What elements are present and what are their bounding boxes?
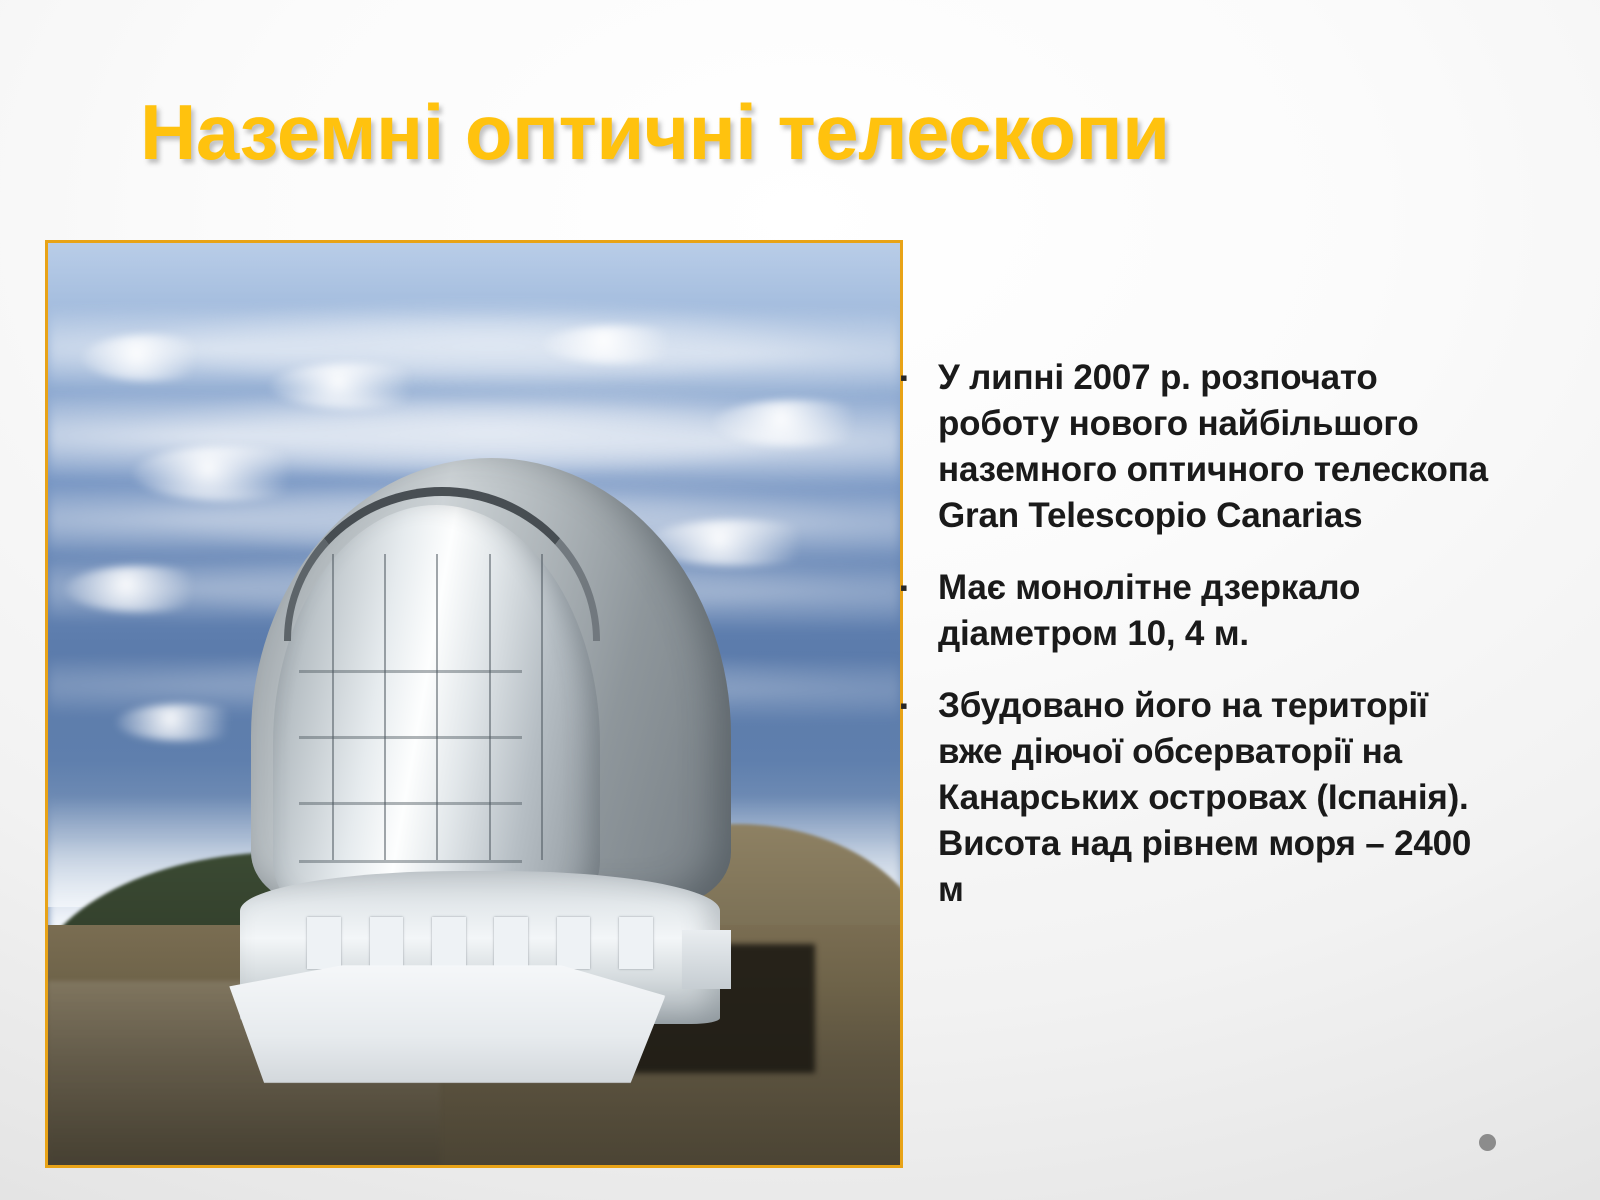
drum-window: [494, 917, 528, 969]
dome-ring: [299, 670, 521, 673]
drum-window: [619, 917, 653, 969]
photo-canvas: [48, 243, 900, 1165]
cloud-puff: [713, 400, 883, 446]
drum-window: [370, 917, 404, 969]
list-item: ▪ У липні 2007 р. розпочато роботу новог…: [900, 355, 1500, 539]
cloud-puff: [65, 566, 218, 612]
list-item-text: Збудовано його на території вже діючої о…: [938, 683, 1500, 913]
cloud-puff: [270, 363, 440, 409]
observatory-dome: [218, 446, 763, 1036]
decorative-dot: [1479, 1134, 1496, 1151]
bullet-list: ▪ У липні 2007 р. розпочато роботу новог…: [900, 355, 1500, 939]
list-item: ▪ Збудовано його на території вже діючої…: [900, 683, 1500, 913]
square-bullet-icon: ▪: [900, 683, 938, 729]
building-apron: [229, 965, 665, 1083]
drum-window: [432, 917, 466, 969]
list-item-text: Має монолітне дзеркало діаметром 10, 4 м…: [938, 565, 1500, 657]
dome-ring: [299, 860, 521, 863]
drum-window: [557, 917, 591, 969]
square-bullet-icon: ▪: [900, 355, 938, 401]
page-title: Наземні оптичні телескопи: [140, 92, 1470, 174]
list-item-text: У липні 2007 р. розпочато роботу нового …: [938, 355, 1500, 539]
telescope-photo: [45, 240, 903, 1168]
outbuilding: [682, 930, 731, 989]
cloud-puff: [542, 326, 695, 363]
square-bullet-icon: ▪: [900, 565, 938, 611]
dome-ring: [299, 736, 521, 739]
list-item: ▪ Має монолітне дзеркало діаметром 10, 4…: [900, 565, 1500, 657]
drum-window: [307, 917, 341, 969]
dome-ring: [299, 802, 521, 805]
